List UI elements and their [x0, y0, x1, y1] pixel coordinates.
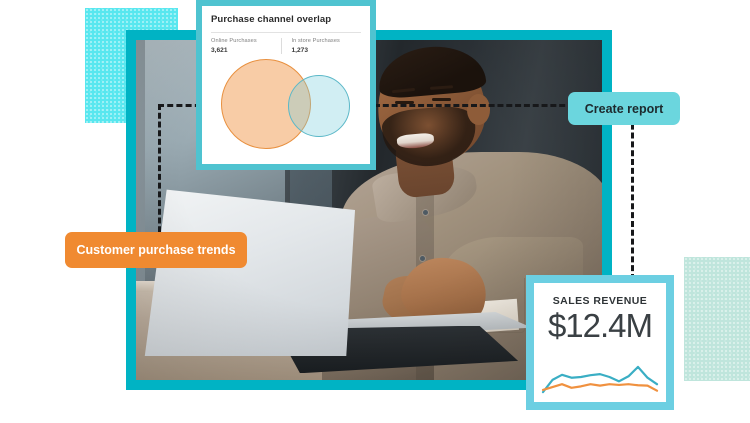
- promo-graphic: Purchase channel overlap Online Purchase…: [0, 0, 750, 423]
- create-report-button[interactable]: Create report: [568, 92, 680, 125]
- sales-revenue-sparkline: [540, 356, 660, 398]
- stat-label: In store Purchases: [292, 38, 356, 44]
- connector-line-right-vertical: [631, 106, 634, 280]
- customer-purchase-trends-pill[interactable]: Customer purchase trends: [65, 232, 247, 268]
- button-label: Create report: [585, 102, 664, 116]
- sales-revenue-card: SALES REVENUE $12.4M: [526, 275, 674, 410]
- sparkline-series-revenue: [543, 367, 657, 392]
- purchase-channel-overlap-card: Purchase channel overlap Online Purchase…: [196, 0, 376, 170]
- stat-label: Online Purchases: [211, 38, 275, 44]
- stat-row: Online Purchases 3,621 In store Purchase…: [211, 32, 361, 54]
- stat-value: 3,621: [211, 47, 275, 54]
- pill-label: Customer purchase trends: [76, 243, 235, 257]
- card-title: Purchase channel overlap: [211, 14, 361, 25]
- connector-line-left-vertical: [158, 104, 161, 241]
- purchase-channel-overlap-card-body: Purchase channel overlap Online Purchase…: [202, 6, 370, 164]
- venn-circle-in-store-purchases: [288, 75, 350, 137]
- stat-online-purchases: Online Purchases 3,621: [211, 38, 281, 54]
- sales-revenue-label: SALES REVENUE: [544, 295, 656, 307]
- sparkline-series-target: [543, 384, 657, 390]
- background-mint-block: [684, 257, 750, 381]
- venn-diagram: [211, 57, 361, 155]
- stat-in-store-purchases: In store Purchases 1,273: [281, 38, 362, 54]
- sales-revenue-value: $12.4M: [544, 309, 656, 344]
- connector-line-right-horizontal: [374, 104, 574, 107]
- stat-value: 1,273: [292, 47, 356, 54]
- sales-revenue-card-body: SALES REVENUE $12.4M: [534, 283, 666, 402]
